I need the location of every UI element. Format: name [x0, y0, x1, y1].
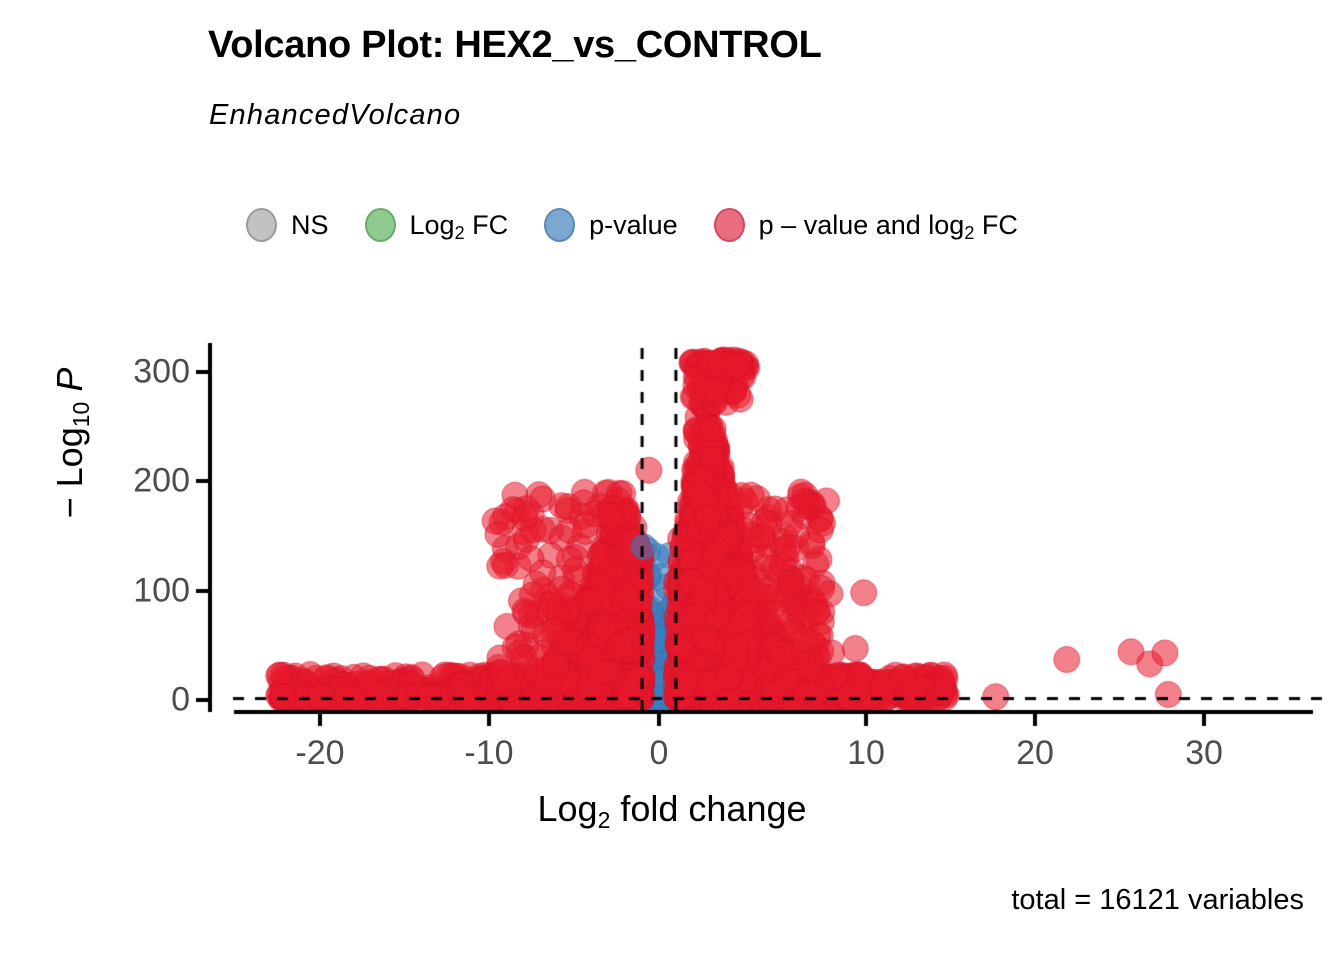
y-axis-title-suffix: P	[49, 368, 90, 392]
x-tick-label: -20	[295, 734, 344, 773]
plot-caption: total = 16121 variables	[1011, 884, 1304, 917]
x-axis-title-sub: 2	[598, 807, 611, 833]
y-tick-label: 100	[60, 572, 190, 611]
volcano-plot-figure: Volcano Plot: HEX2_vs_CONTROL EnhancedVo…	[0, 0, 1344, 960]
x-tick-label: 30	[1185, 734, 1223, 773]
x-axis-title-suffix: fold change	[610, 788, 806, 829]
x-tick-label: 20	[1016, 734, 1054, 773]
y-tick-label: 0	[60, 681, 190, 720]
x-tick-label: 0	[650, 734, 669, 773]
x-axis-title: Log2 fold change	[0, 788, 1344, 830]
y-axis-title: − Log10 P	[49, 313, 91, 573]
y-axis-title-sub: 10	[68, 402, 94, 428]
x-tick-label: 10	[847, 734, 885, 773]
y-axis-title-prefix: − Log	[49, 427, 90, 518]
x-tick-label: -10	[464, 734, 513, 773]
x-axis-title-prefix: Log	[537, 788, 597, 829]
